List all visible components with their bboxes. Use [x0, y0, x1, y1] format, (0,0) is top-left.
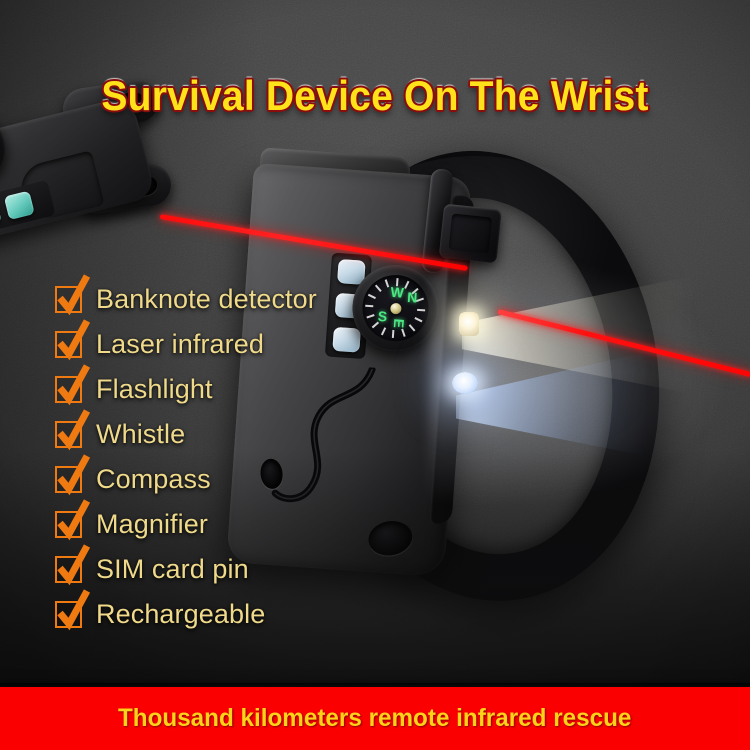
page-title: Survival Device On The Wrist: [26, 72, 724, 120]
feature-label: Rechargeable: [96, 599, 265, 630]
feature-label: Flashlight: [96, 374, 213, 405]
feature-item: Magnifier: [55, 502, 317, 547]
bottom-banner: Thousand kilometers remote infrared resc…: [0, 687, 750, 750]
checkbox-checked-icon: [55, 286, 82, 313]
feature-label: Compass: [96, 464, 211, 495]
checkbox-checked-icon: [55, 511, 82, 538]
feature-item: Whistle: [55, 412, 317, 457]
checkbox-checked-icon: [55, 556, 82, 583]
feature-label: Magnifier: [96, 509, 208, 540]
checkbox-checked-icon: [55, 421, 82, 448]
banner-text: Thousand kilometers remote infrared resc…: [118, 704, 631, 733]
feature-item: Flashlight: [55, 367, 317, 412]
feature-list: Banknote detectorLaser infraredFlashligh…: [55, 277, 317, 637]
checkbox-checked-icon: [55, 466, 82, 493]
feature-label: Laser infrared: [96, 329, 264, 360]
feature-item: Laser infrared: [55, 322, 317, 367]
feature-item: Rechargeable: [55, 592, 317, 637]
product-poster: N E S W: [0, 0, 750, 750]
checkbox-checked-icon: [55, 601, 82, 628]
feature-item: Compass: [55, 457, 317, 502]
feature-item: Banknote detector: [55, 277, 317, 322]
feature-label: Banknote detector: [96, 284, 317, 315]
feature-item: SIM card pin: [55, 547, 317, 592]
checkbox-checked-icon: [55, 331, 82, 358]
feature-label: SIM card pin: [96, 554, 249, 585]
checkbox-checked-icon: [55, 376, 82, 403]
feature-label: Whistle: [96, 419, 185, 450]
